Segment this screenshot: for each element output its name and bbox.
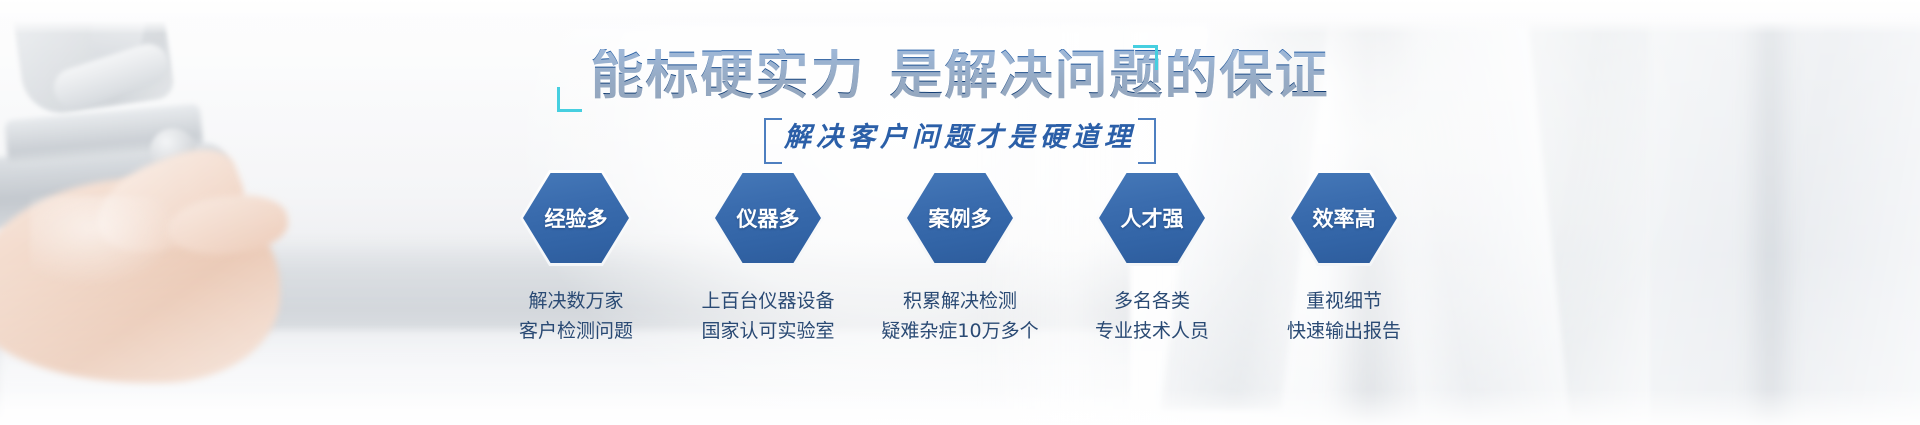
hexagon-fill: 效率高	[1291, 173, 1397, 263]
hexagon-badge[interactable]: 案例多	[904, 170, 1016, 266]
subtitle-text: 解决客户问题才是硬道理	[784, 122, 1136, 153]
feature-item-experience[interactable]: 经验多 解决数万家 客户检测问题	[502, 170, 650, 347]
hexagon-label: 人才强	[1121, 203, 1184, 233]
headline-part-1: 能标硬实力	[591, 49, 866, 102]
feature-description: 重视细节 快速输出报告	[1287, 286, 1401, 347]
banner-content: 能标硬实力 是解决问题的保证 解决客户问题才是硬道理 经验多	[0, 0, 1920, 425]
hexagon-badge[interactable]: 经验多	[520, 170, 632, 266]
headline-part-2: 是解决问题的保证	[890, 49, 1330, 102]
hexagon-badge[interactable]: 仪器多	[712, 170, 824, 266]
feature-list: 经验多 解决数万家 客户检测问题 仪器多 上百台仪器设备 国家认可实验室	[0, 170, 1920, 347]
feature-description-line2: 客户检测问题	[519, 316, 633, 346]
hexagon-fill: 案例多	[907, 173, 1013, 263]
hexagon-label: 案例多	[929, 203, 992, 233]
feature-item-instruments[interactable]: 仪器多 上百台仪器设备 国家认可实验室	[694, 170, 842, 347]
feature-description-line2: 专业技术人员	[1095, 316, 1209, 346]
corner-bracket-top-right-icon	[1133, 45, 1158, 70]
hexagon-fill: 人才强	[1099, 173, 1205, 263]
feature-description-line2: 快速输出报告	[1287, 316, 1401, 346]
headline-row: 能标硬实力 是解决问题的保证	[0, 44, 1920, 106]
feature-description: 积累解决检测 疑难杂症10万多个	[881, 286, 1038, 347]
feature-description-line1: 重视细节	[1306, 290, 1382, 312]
feature-description: 多名各类 专业技术人员	[1095, 286, 1209, 347]
promo-banner: 能标硬实力 是解决问题的保证 解决客户问题才是硬道理 经验多	[0, 0, 1920, 425]
feature-description-line1: 积累解决检测	[903, 290, 1017, 312]
subtitle-row: 解决客户问题才是硬道理	[0, 116, 1920, 162]
subtitle: 解决客户问题才是硬道理	[764, 118, 1156, 160]
feature-item-talent[interactable]: 人才强 多名各类 专业技术人员	[1078, 170, 1226, 347]
hexagon-label: 效率高	[1313, 203, 1376, 233]
headline: 能标硬实力 是解决问题的保证	[573, 49, 1348, 102]
hexagon-label: 仪器多	[737, 203, 800, 233]
hexagon-fill: 仪器多	[715, 173, 821, 263]
hexagon-badge[interactable]: 效率高	[1288, 170, 1400, 266]
feature-description-line1: 上百台仪器设备	[701, 290, 834, 312]
feature-description-line1: 多名各类	[1114, 290, 1190, 312]
hexagon-badge[interactable]: 人才强	[1096, 170, 1208, 266]
hexagon-label: 经验多	[545, 203, 608, 233]
feature-item-cases[interactable]: 案例多 积累解决检测 疑难杂症10万多个	[886, 170, 1034, 347]
hexagon-fill: 经验多	[523, 173, 629, 263]
feature-description-line2: 疑难杂症10万多个	[881, 316, 1038, 346]
feature-item-efficiency[interactable]: 效率高 重视细节 快速输出报告	[1270, 170, 1418, 347]
feature-description: 上百台仪器设备 国家认可实验室	[701, 286, 834, 347]
corner-bracket-bottom-left-icon	[557, 87, 582, 112]
subtitle-frame-left-icon	[764, 118, 782, 164]
feature-description-line2: 国家认可实验室	[701, 316, 834, 346]
feature-description-line1: 解决数万家	[528, 290, 623, 312]
feature-description: 解决数万家 客户检测问题	[519, 286, 633, 347]
subtitle-frame-right-icon	[1138, 118, 1156, 164]
